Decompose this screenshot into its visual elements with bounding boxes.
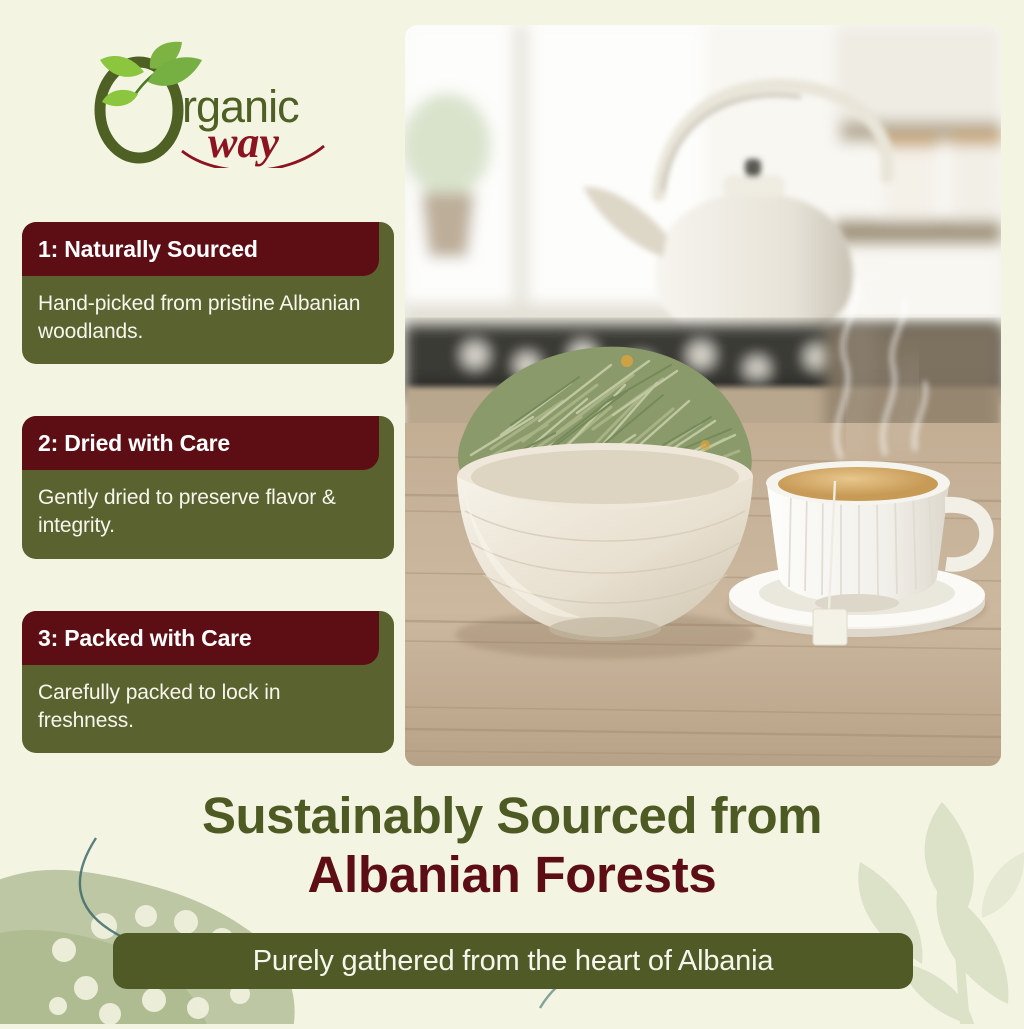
feature-card[interactable]: 1: Naturally Sourced Hand-picked from pr…: [22, 222, 394, 364]
feature-card-body: Carefully packed to lock in freshness.: [22, 665, 394, 737]
tagline-text: Purely gathered from the heart of Albani…: [253, 945, 774, 978]
product-photo: [405, 25, 1001, 766]
headline-line-2: Albanian Forests: [0, 846, 1024, 903]
feature-card-title: 2: Dried with Care: [22, 416, 379, 470]
page-headline: Sustainably Sourced from Albanian Forest…: [0, 788, 1024, 903]
feature-card-body: Hand-picked from pristine Albanian woodl…: [22, 276, 394, 348]
feature-card-title: 3: Packed with Care: [22, 611, 379, 665]
feature-card-body: Gently dried to preserve flavor & integr…: [22, 470, 394, 542]
feature-card[interactable]: 3: Packed with Care Carefully packed to …: [22, 611, 394, 753]
feature-card-list: 1: Naturally Sourced Hand-picked from pr…: [22, 222, 394, 805]
headline-line-1: Sustainably Sourced from: [0, 788, 1024, 844]
tea-liquid: [778, 467, 938, 501]
logo-text-way: way: [208, 118, 279, 167]
feature-card[interactable]: 2: Dried with Care Gently dried to prese…: [22, 416, 394, 558]
tagline-banner: Purely gathered from the heart of Albani…: [113, 933, 913, 989]
brand-logo[interactable]: rganic way: [86, 38, 386, 168]
feature-card-title: 1: Naturally Sourced: [22, 222, 379, 276]
